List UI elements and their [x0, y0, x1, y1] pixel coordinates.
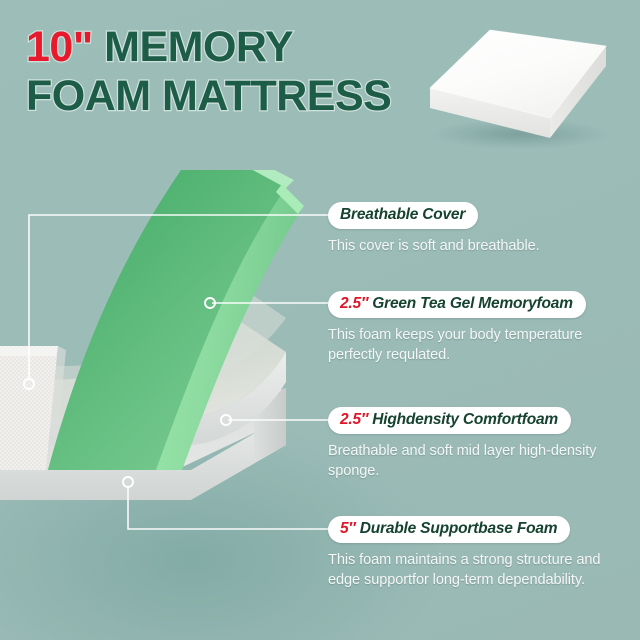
callout-durable-supportbase-foam: 5″ Durable Supportbase Foam This foam ma… — [328, 516, 628, 590]
callout-badge-highdensity-comfortfoam[interactable]: 2.5″ Highdensity Comfortfoam — [328, 407, 571, 434]
callout-number-2: 2.5″ — [340, 411, 368, 428]
callout-badge-green-tea-gel-memoryfoam[interactable]: 2.5″ Green Tea Gel Memoryfoam — [328, 291, 586, 318]
callout-highdensity-comfortfoam: 2.5″ Highdensity Comfortfoam Breathable … — [328, 407, 628, 481]
infographic-canvas: 10" MEMORY FOAM MATTRESS — [0, 0, 640, 640]
callout-description-1: This foam keeps your body temperature pe… — [328, 325, 628, 365]
callout-number-1: 2.5″ — [340, 295, 368, 312]
callout-badge-breathable-cover[interactable]: Breathable Cover — [328, 202, 478, 229]
callout-label-2: Highdensity Comfortfoam — [368, 411, 558, 428]
callout-green-tea-gel-memoryfoam: 2.5″ Green Tea Gel Memoryfoam This foam … — [328, 291, 628, 365]
callout-label-1: Green Tea Gel Memoryfoam — [368, 295, 573, 312]
title-line-2: FOAM MATTRESS — [26, 75, 426, 118]
callout-description-2: Breathable and soft mid layer high-densi… — [328, 441, 628, 481]
callout-description-0: This cover is soft and breathable. — [328, 236, 540, 256]
page-title: 10" MEMORY FOAM MATTRESS — [26, 26, 426, 117]
callout-label-3: Durable Supportbase Foam — [356, 520, 558, 537]
title-line-1-rest: MEMORY — [93, 23, 293, 71]
callout-label-0: Breathable Cover — [340, 206, 465, 223]
title-size-value: 10" — [26, 23, 93, 71]
mattress-cutaway-illustration — [0, 170, 346, 510]
callout-number-3: 5″ — [340, 520, 356, 537]
callout-badge-durable-supportbase-foam[interactable]: 5″ Durable Supportbase Foam — [328, 516, 570, 543]
callout-description-3: This foam maintains a strong structure a… — [328, 550, 628, 590]
callout-breathable-cover: Breathable Cover This cover is soft and … — [328, 202, 540, 256]
hero-mattress-image — [420, 22, 620, 152]
title-line-1: 10" MEMORY — [26, 26, 426, 69]
